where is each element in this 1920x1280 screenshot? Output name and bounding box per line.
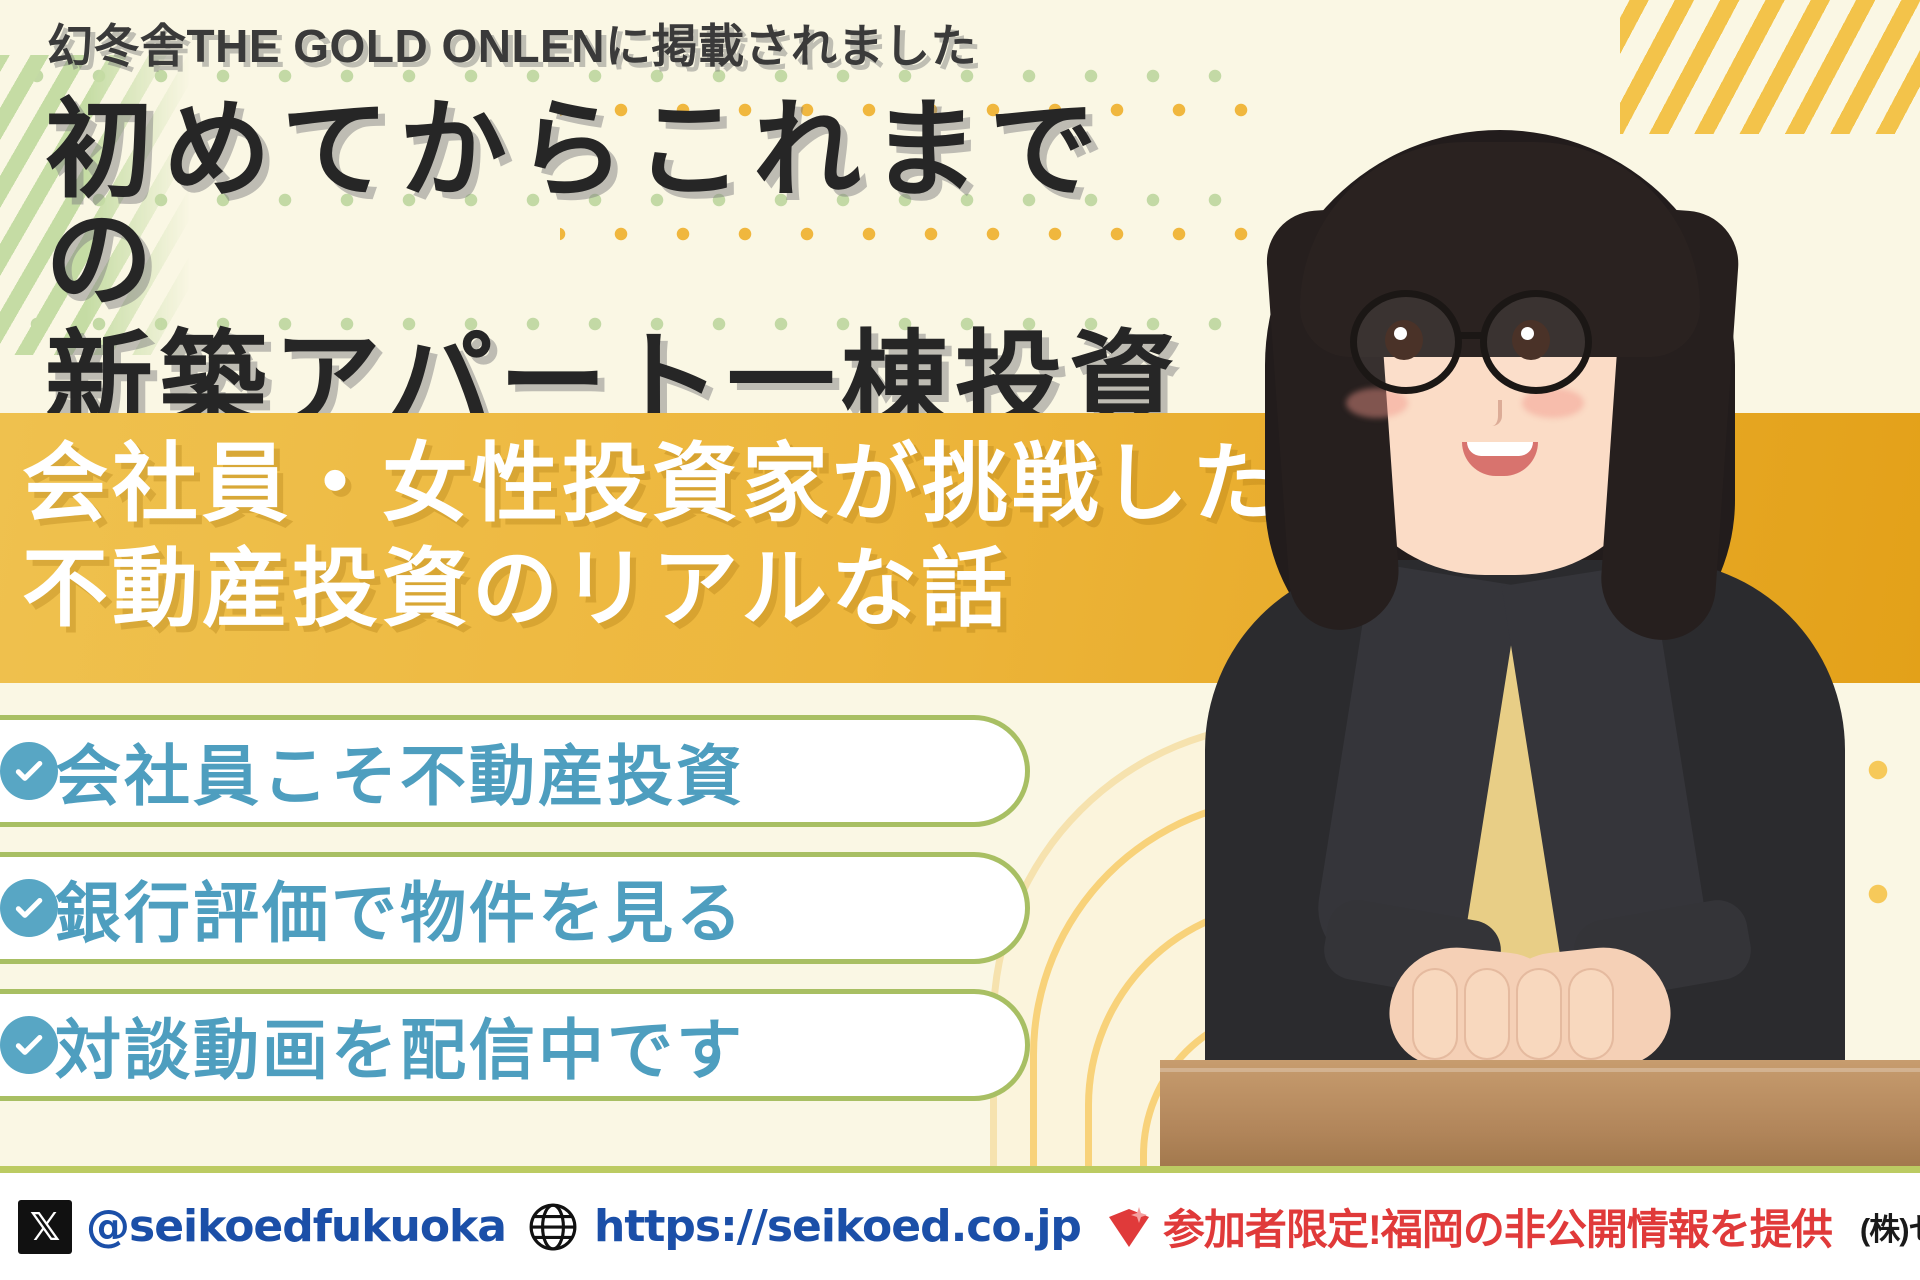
eye-left [1385, 320, 1423, 360]
check-circle-icon [0, 1016, 58, 1074]
gem-icon [1105, 1205, 1153, 1249]
bullet-list: 会社員こそ不動産投資 銀行評価で物件を見る 対談動画を配信中です [0, 715, 1030, 1126]
headline-line-1: 初めてからこれまでの [45, 95, 1205, 315]
page-title: 初めてからこれまでの 新築アパート一棟投資 [45, 95, 1205, 437]
list-item[interactable]: 対談動画を配信中です [0, 989, 1030, 1101]
eye-right [1512, 320, 1550, 360]
list-item-label: 会社員こそ不動産投資 [55, 723, 745, 819]
list-item-label: 対談動画を配信中です [55, 997, 745, 1093]
nose-shape [1486, 400, 1502, 426]
glasses-bridge [1460, 332, 1486, 339]
x-logo-icon[interactable]: 𝕏 [18, 1200, 72, 1254]
poster-canvas: 幻冬舎THE GOLD ONLENに掲載されました 初めてからこれまでの 新築ア… [0, 0, 1920, 1280]
check-circle-icon [0, 879, 58, 937]
social-handle[interactable]: @seikoedfukuoka [86, 1201, 506, 1252]
list-item[interactable]: 銀行評価で物件を見る [0, 852, 1030, 964]
company-name: (株)セイコー・エステート＆ディベロップメント [1860, 1204, 1920, 1249]
check-circle-icon [0, 742, 58, 800]
gold-diagonal-stripes [1620, 0, 1920, 134]
desk-surface [1160, 1060, 1920, 1180]
fingers-group [1412, 968, 1662, 1064]
promo-text: 参加者限定!福岡の非公開情報を提供 [1163, 1196, 1832, 1257]
presenter-illustration [1160, 120, 1920, 1180]
list-item-label: 銀行評価で物件を見る [55, 860, 745, 956]
footer-bar: 𝕏 @seikoedfukuoka https://seikoed.co.jp … [0, 1173, 1920, 1280]
illustration-figure [1160, 120, 1920, 1180]
website-url[interactable]: https://seikoed.co.jp [594, 1201, 1081, 1252]
footer-divider [0, 1166, 1920, 1173]
kicker-text: 幻冬舎THE GOLD ONLENに掲載されました [47, 10, 977, 76]
list-item[interactable]: 会社員こそ不動産投資 [0, 715, 1030, 827]
globe-icon [528, 1202, 578, 1252]
